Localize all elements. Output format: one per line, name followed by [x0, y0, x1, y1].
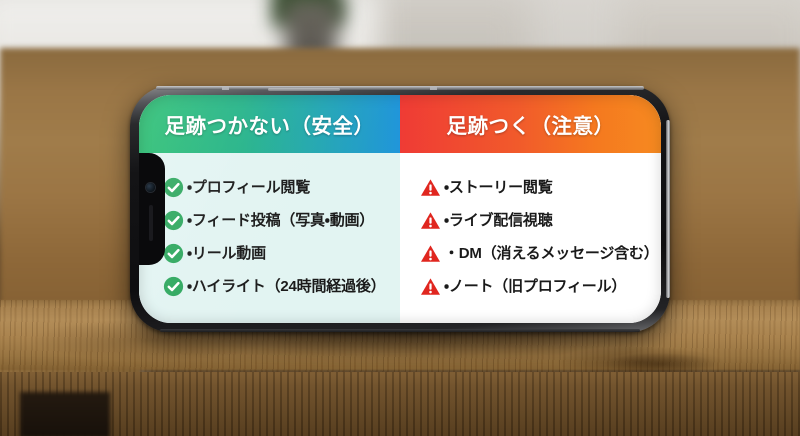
earpiece-speaker — [149, 205, 153, 241]
column-warning: 足跡つく（注意） ・ストーリー閲覧 — [400, 95, 661, 323]
phone-antenna-line — [222, 87, 229, 90]
column-safe: 足跡つかない（安全） ・プロフィール閲覧 — [139, 95, 400, 323]
table-leg — [20, 392, 110, 436]
list-item: ・ハイライト（24時間経過後） — [139, 270, 400, 303]
list-item: ・フィード投稿（写真・動画） — [139, 204, 400, 237]
list-item-label: ・ライブ配信視聴 — [444, 213, 553, 228]
column-warning-header: 足跡つく（注意） — [400, 95, 661, 153]
list-item-label: ・フィード投稿（写真・動画） — [187, 213, 374, 228]
check-circle-icon — [163, 276, 184, 297]
list-item: ・リール動画 — [139, 237, 400, 270]
list-item: ・ライブ配信視聴 — [400, 204, 661, 237]
check-circle-icon — [163, 243, 184, 264]
warning-triangle-icon — [420, 244, 441, 263]
warning-triangle-icon — [420, 178, 441, 197]
table-front-edge — [0, 372, 800, 436]
list-item: ・ノート（旧プロフィール） — [400, 270, 661, 303]
list-item: ・プロフィール閲覧 — [139, 171, 400, 204]
phone-device: 足跡つかない（安全） ・プロフィール閲覧 — [130, 86, 670, 332]
phone-bottom-rail — [160, 329, 640, 332]
front-camera-icon — [146, 183, 155, 192]
volume-button[interactable] — [268, 88, 340, 91]
list-item-label: ・リール動画 — [187, 246, 266, 261]
list-item: ・ストーリー閲覧 — [400, 171, 661, 204]
phone-right-rail — [666, 120, 670, 298]
phone-screen: 足跡つかない（安全） ・プロフィール閲覧 — [139, 95, 661, 323]
check-circle-icon — [163, 210, 184, 231]
phone-antenna-line — [430, 87, 437, 90]
screenshot-stage: 足跡つかない（安全） ・プロフィール閲覧 — [0, 0, 800, 436]
warning-triangle-icon — [420, 211, 441, 230]
list-item-label: ・ハイライト（24時間経過後） — [187, 279, 386, 294]
phone-notch — [139, 153, 165, 265]
list-item-label: ・ノート（旧プロフィール） — [444, 279, 626, 294]
column-safe-header: 足跡つかない（安全） — [139, 95, 400, 153]
list-item-label: ・DM（消えるメッセージ含む） — [444, 246, 659, 261]
warning-triangle-icon — [420, 277, 441, 296]
column-safe-list: ・プロフィール閲覧 ・フィード投稿（写真・動画） — [139, 153, 400, 323]
list-item-label: ・プロフィール閲覧 — [187, 180, 310, 195]
list-item-label: ・ストーリー閲覧 — [444, 180, 553, 195]
phone-top-rail — [156, 86, 644, 90]
column-warning-list: ・ストーリー閲覧 ・ライブ配信視聴 — [400, 153, 661, 323]
check-circle-icon — [163, 177, 184, 198]
list-item: ・DM（消えるメッセージ含む） — [400, 237, 661, 270]
